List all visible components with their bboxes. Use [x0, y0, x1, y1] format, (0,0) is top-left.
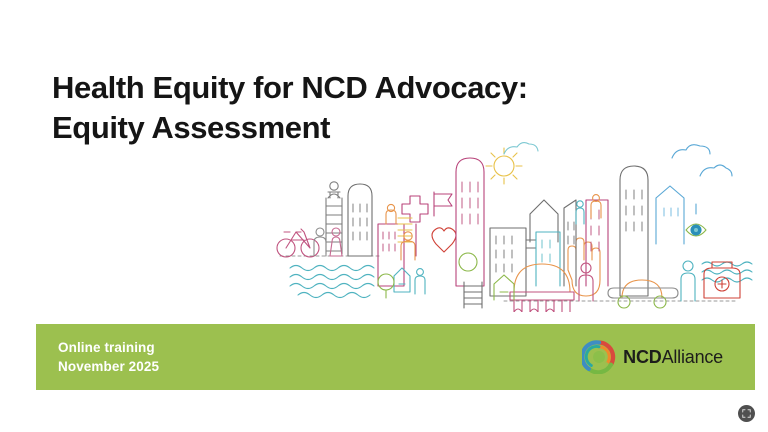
- footer-bar: Online training November 2025: [36, 324, 755, 390]
- ncd-alliance-logo: NCDAlliance: [582, 340, 723, 374]
- footer-text: Online training November 2025: [58, 338, 159, 376]
- expand-icon: [742, 409, 751, 418]
- footer-line-2: November 2025: [58, 357, 159, 376]
- logo-text-ncd: NCD: [623, 347, 661, 367]
- footer-line-1: Online training: [58, 338, 159, 357]
- slide-root: Health Equity for NCD Advocacy: Equity A…: [0, 0, 768, 432]
- ncd-alliance-wordmark: NCDAlliance: [623, 347, 723, 368]
- presentation-overlay-button[interactable]: [738, 405, 755, 422]
- title-line-1: Health Equity for NCD Advocacy:: [52, 68, 652, 108]
- logo-text-alliance: Alliance: [662, 347, 723, 367]
- ncd-alliance-circle-mark: [582, 340, 616, 374]
- city-health-line-illustration: [268, 136, 760, 312]
